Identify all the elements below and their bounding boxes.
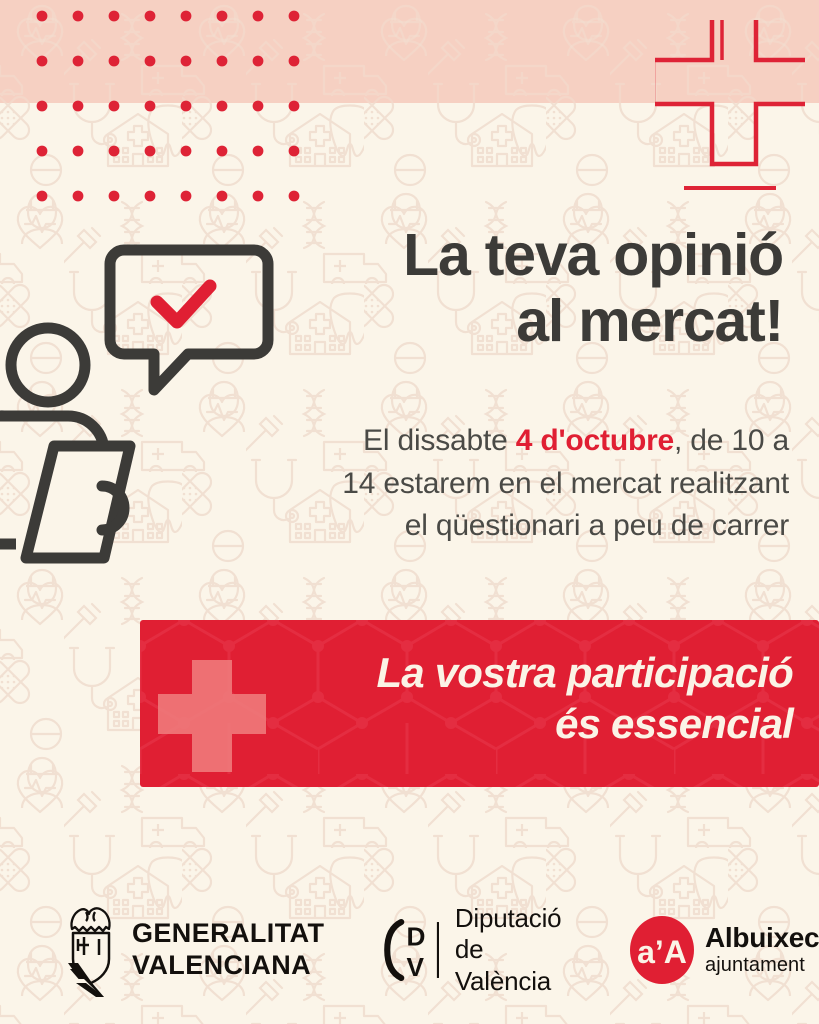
- albuixech-mark-text: a’A: [637, 934, 687, 970]
- body-copy: El dissabte 4 d'octubre, de 10 a 14 esta…: [169, 420, 789, 548]
- dv-line-2: de València: [455, 934, 570, 996]
- generalitat-valenciana-wordmark: GENERALITAT VALENCIANA: [132, 918, 324, 982]
- gva-line-2: VALENCIANA: [132, 950, 324, 982]
- body-line-2: 14 estarem en el mercat realitzant: [169, 463, 789, 506]
- logo-diputacio-de-valencia: D V Diputació de València: [382, 903, 570, 997]
- logo-generalitat-valenciana: GENERALITAT VALENCIANA: [62, 903, 324, 998]
- svg-text:V: V: [407, 952, 425, 982]
- check-mark-icon: [157, 286, 210, 322]
- body-line-1: El dissabte 4 d'octubre, de 10 a: [169, 420, 789, 463]
- body-date-highlight: 4 d'octubre: [516, 424, 674, 457]
- albuixech-name: Albuixech: [705, 923, 819, 952]
- headline-line-2: al mercat!: [403, 288, 783, 354]
- banner-line-1: La vostra participació: [376, 647, 793, 698]
- generalitat-valenciana-crest-icon: [62, 903, 120, 998]
- banner-text: La vostra participació és essencial: [376, 647, 793, 749]
- diputacio-wordmark: Diputació de València: [455, 903, 570, 997]
- banner-line-2: és essencial: [376, 698, 793, 749]
- body-line-3: el qüestionari a peu de carrer: [169, 505, 789, 548]
- logo-albuixech-ajuntament: a’A Albuixech ajuntament: [630, 912, 819, 988]
- participation-banner: La vostra participació és essencial: [140, 620, 819, 787]
- body-line-1-after: , de 10 a: [674, 424, 789, 457]
- albuixech-subtitle: ajuntament: [705, 953, 819, 977]
- albuixech-circle-icon: a’A: [630, 912, 694, 988]
- headline: La teva opinió al mercat!: [403, 222, 783, 354]
- poster-canvas: La teva opinió al mercat! El dissabte 4 …: [0, 0, 819, 1024]
- albuixech-wordmark: Albuixech ajuntament: [705, 923, 819, 977]
- body-line-1-before: El dissabte: [363, 424, 516, 457]
- top-red-rule: [684, 186, 776, 190]
- dv-line-1: Diputació: [455, 903, 570, 934]
- speech-bubble-icon: [110, 250, 268, 390]
- medical-cross-filled-icon: [158, 660, 268, 772]
- red-dot-grid: [34, 8, 334, 208]
- dv-monogram-icon: D V: [382, 912, 441, 988]
- gva-line-1: GENERALITAT: [132, 918, 324, 950]
- medical-cross-outline-icon: [655, 20, 805, 180]
- footer-logos: GENERALITAT VALENCIANA D V Diputació de …: [0, 895, 819, 1005]
- headline-line-1: La teva opinió: [403, 222, 783, 288]
- svg-text:D: D: [407, 922, 426, 952]
